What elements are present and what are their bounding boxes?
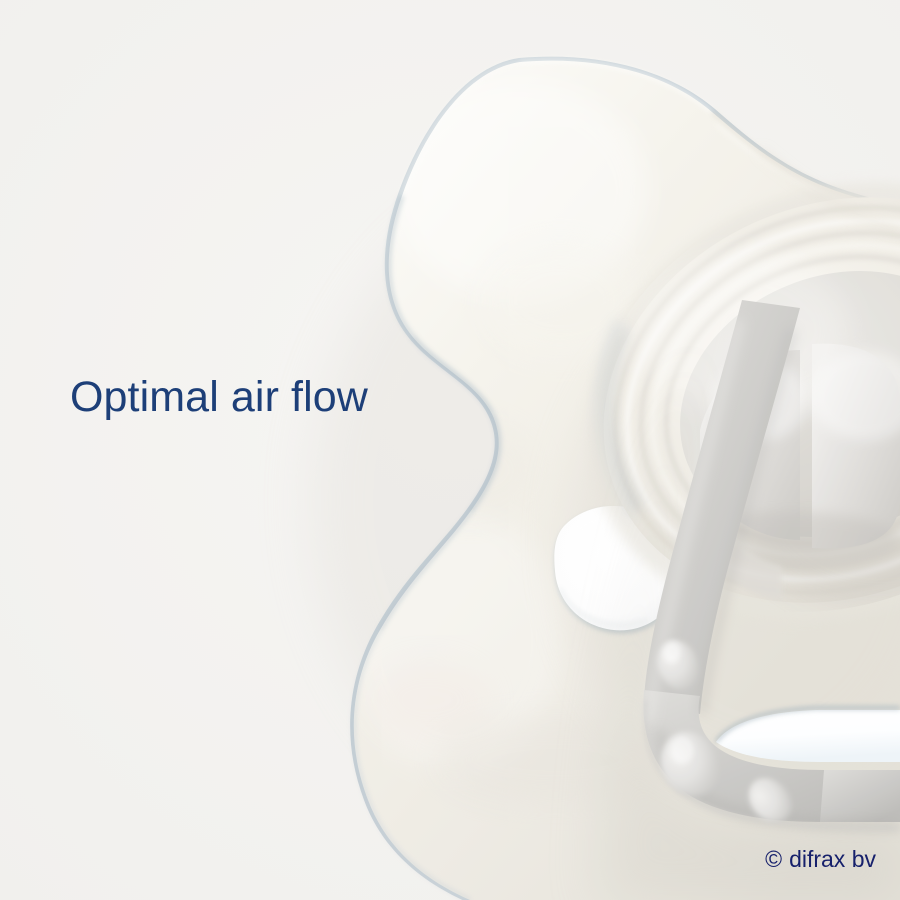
copyright-owner-label: difrax bv [789, 846, 876, 873]
copyright-symbol-icon: © [765, 848, 782, 871]
pacifier-illustration [0, 0, 900, 900]
pacifier-product-photo [0, 0, 900, 900]
image-canvas: Optimal air flow © difrax bv [0, 0, 900, 900]
caption-optimal-air-flow: Optimal air flow [70, 373, 368, 421]
copyright-notice: © difrax bv [765, 846, 876, 873]
